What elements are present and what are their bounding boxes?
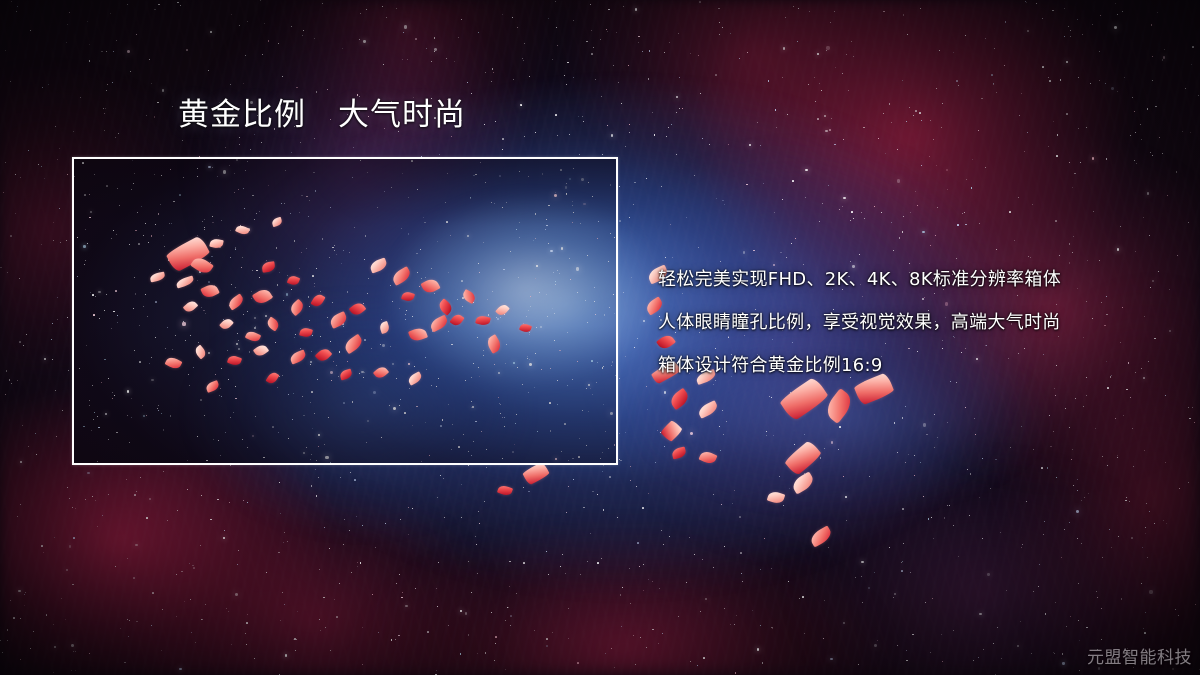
flower-petal <box>790 471 816 494</box>
frame-darken-overlay <box>74 159 616 463</box>
slide-canvas: 黄金比例 大气时尚 轻松完美实现FHD、2K、4K、8K标准分辨率箱体 人体眼睛… <box>0 0 1200 675</box>
body-line-3: 箱体设计符合黄金比例16:9 <box>658 344 1188 387</box>
flower-petal <box>784 439 823 476</box>
flower-petal <box>671 446 687 459</box>
flower-petal <box>660 419 683 442</box>
frame-inner-image <box>74 159 616 463</box>
flower-petal <box>668 388 692 410</box>
watermark-label: 元盟智能科技 <box>1087 650 1192 667</box>
flower-petal <box>697 400 720 419</box>
flower-petal <box>698 449 717 466</box>
body-line-2: 人体眼睛瞳孔比例，享受视觉效果，高端大气时尚 <box>658 301 1188 344</box>
flower-petal <box>497 484 513 497</box>
page-title: 黄金比例 大气时尚 <box>178 100 466 131</box>
flower-petal <box>808 525 834 547</box>
flower-petal <box>767 490 786 505</box>
body-text-block: 轻松完美实现FHD、2K、4K、8K标准分辨率箱体 人体眼睛瞳孔比例，享受视觉效… <box>658 258 1188 387</box>
nebula-photo-frame[interactable] <box>72 157 618 465</box>
flower-petal <box>822 388 856 424</box>
body-line-1: 轻松完美实现FHD、2K、4K、8K标准分辨率箱体 <box>658 258 1188 301</box>
